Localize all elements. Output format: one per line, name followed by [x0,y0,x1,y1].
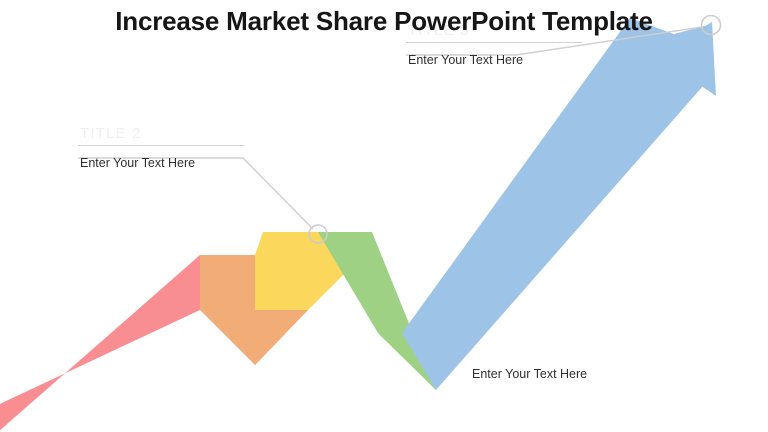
chart-segment-blue-shaft [436,40,710,390]
chart-segment-blue-shaft-fill [402,18,690,390]
callout-title2-divider [78,145,244,146]
callout-title2-heading: TITLE 2 [80,125,244,143]
callout-title1[interactable]: Enter Your Text Here [472,366,587,382]
callout-title1-body[interactable]: Enter Your Text Here [472,366,587,382]
callout-title3-divider [406,42,582,43]
market-share-arrow-chart [0,0,768,432]
callout-title3-body[interactable]: Enter Your Text Here [408,52,582,68]
callout-title2[interactable]: TITLE 2 Enter Your Text Here [78,125,244,171]
slide-canvas: Increase Market Share PowerPoint Templat… [0,0,768,432]
chart-segment-pink [0,255,200,432]
callout-title2-body[interactable]: Enter Your Text Here [80,155,244,171]
page-title: Increase Market Share PowerPoint Templat… [0,6,768,37]
